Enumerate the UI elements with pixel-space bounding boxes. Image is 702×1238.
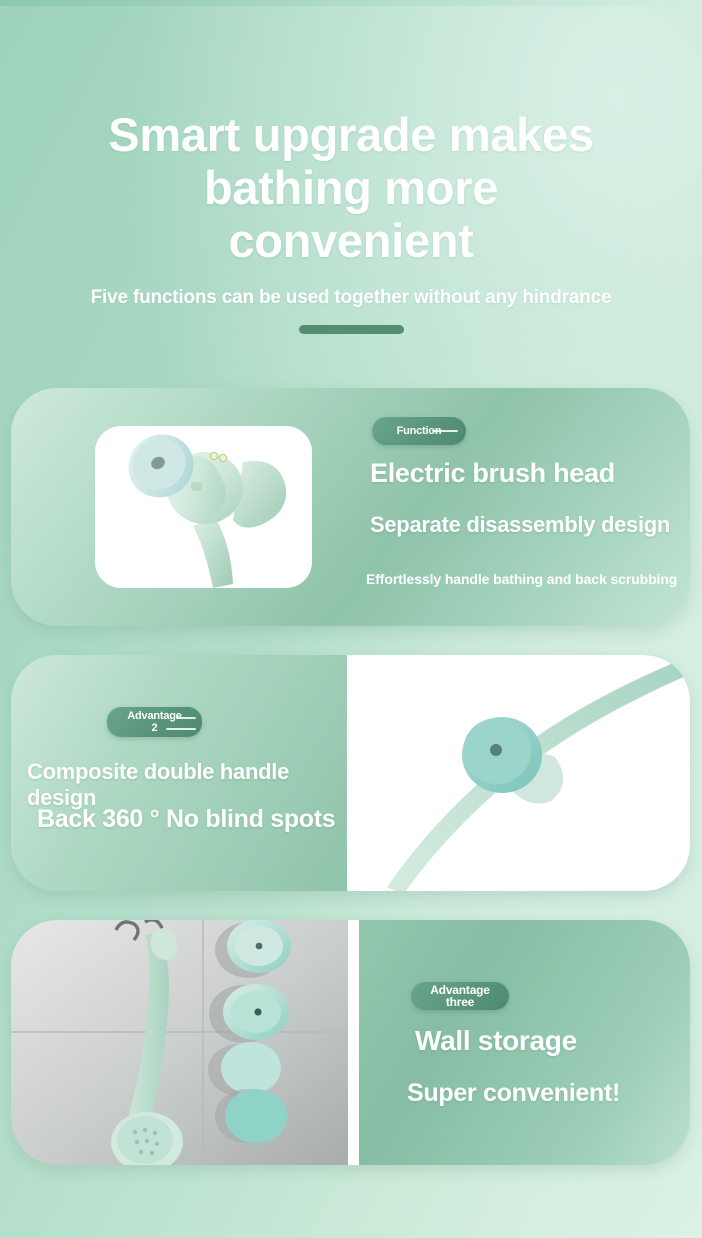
long-handle-brush-illustration bbox=[347, 655, 690, 891]
feature-card-3-subheading: Super convenient! bbox=[407, 1079, 620, 1108]
badge-function: Function bbox=[372, 417, 466, 445]
feature-card-2-heading: Composite double handle design bbox=[27, 759, 347, 811]
feature-card-electric-brush-head[interactable]: Function Electric brush head Separate di… bbox=[11, 388, 690, 626]
card-3-photo-divider bbox=[348, 920, 359, 1165]
feature-card-1-text-block: Function Electric brush head Separate di… bbox=[362, 388, 690, 626]
feature-card-2-text-block: Advantage 2 Composite double handle desi… bbox=[11, 655, 347, 891]
product-feature-page: Smart upgrade makes bathing more conveni… bbox=[0, 0, 702, 1238]
header-divider bbox=[299, 325, 404, 334]
badge-advantage-three-number: three bbox=[430, 996, 490, 1008]
electric-brush-illustration bbox=[95, 426, 312, 588]
wall-storage-illustration bbox=[11, 920, 348, 1165]
feature-card-1-heading: Electric brush head bbox=[370, 458, 615, 489]
feature-card-1-subheading: Separate disassembly design bbox=[370, 512, 670, 538]
feature-card-2-subheading: Back 360 ° No blind spots bbox=[37, 805, 335, 834]
badge-dash-icon bbox=[432, 430, 458, 432]
feature-card-wall-storage[interactable]: Advantage three Wall storage Super conve… bbox=[11, 920, 690, 1165]
badge-advantage-three: Advantage three bbox=[411, 982, 509, 1010]
feature-card-3-heading: Wall storage bbox=[415, 1025, 577, 1057]
product-photo-electric-brush-head bbox=[95, 426, 312, 588]
badge-advantage-two: Advantage 2 bbox=[107, 707, 202, 737]
page-title-line-3: convenient bbox=[0, 214, 702, 267]
page-title-line-2: bathing more bbox=[0, 161, 702, 214]
feature-card-double-handle-design[interactable]: Advantage 2 Composite double handle desi… bbox=[11, 655, 690, 891]
page-subtitle: Five functions can be used together with… bbox=[0, 287, 702, 309]
badge-advantage-two-label: Advantage bbox=[127, 710, 181, 722]
badge-dash-lower-icon bbox=[166, 728, 196, 730]
page-title-line-1: Smart upgrade makes bbox=[0, 108, 702, 161]
feature-card-1-caption: Effortlessly handle bathing and back scr… bbox=[366, 571, 677, 587]
badge-dash-upper-icon bbox=[176, 717, 196, 719]
product-photo-wall-storage bbox=[11, 920, 348, 1165]
product-photo-long-handle-brush bbox=[347, 655, 690, 891]
feature-card-3-text-block: Advantage three Wall storage Super conve… bbox=[359, 920, 690, 1165]
